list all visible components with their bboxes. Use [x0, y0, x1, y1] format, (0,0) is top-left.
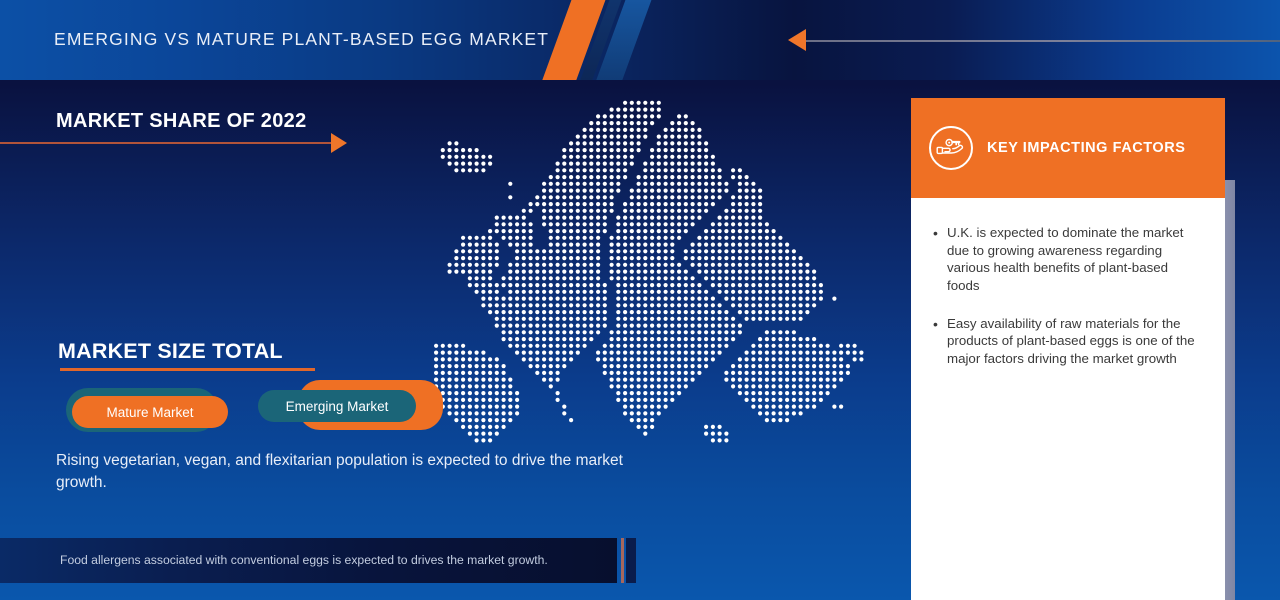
panel-header: KEY IMPACTING FACTORS: [911, 98, 1225, 198]
list-item: • Easy availability of raw materials for…: [933, 315, 1203, 368]
panel-shadow: [1225, 180, 1235, 600]
arrow-left-icon: [788, 29, 806, 51]
infographic-canvas: EMERGING VS MATURE PLANT-BASED EGG MARKE…: [0, 0, 1280, 600]
market-size-underline: [60, 368, 315, 371]
market-share-rule: [0, 142, 338, 144]
legend-pill-emerging-market[interactable]: Emerging Market: [258, 380, 443, 436]
list-item: • U.K. is expected to dominate the marke…: [933, 224, 1203, 295]
header-arrow-line: [804, 40, 1280, 42]
list-item-text: Easy availability of raw materials for t…: [947, 315, 1203, 368]
panel-title: KEY IMPACTING FACTORS: [987, 140, 1185, 156]
list-item-text: U.K. is expected to dominate the market …: [947, 224, 1203, 295]
footer-banner-text: Food allergens associated with conventio…: [60, 553, 605, 567]
legend-pill-label-mature: Mature Market: [72, 396, 228, 428]
footer-banner-accent-bar: [621, 538, 624, 583]
hand-holding-key-icon: [929, 126, 973, 170]
legend-pill-mature-market[interactable]: Mature Market: [66, 388, 241, 436]
bullet-icon: •: [933, 315, 947, 368]
key-impacting-factors-panel: KEY IMPACTING FACTORS • U.K. is expected…: [911, 98, 1225, 600]
market-description-text: Rising vegetarian, vegan, and flexitaria…: [56, 450, 636, 495]
arrow-right-icon: [331, 133, 347, 153]
page-title: EMERGING VS MATURE PLANT-BASED EGG MARKE…: [54, 29, 549, 50]
panel-body: • U.K. is expected to dominate the marke…: [911, 198, 1225, 388]
legend-pill-label-emerging: Emerging Market: [258, 390, 416, 422]
market-share-block: MARKET SHARE OF 2022: [0, 110, 360, 160]
footer-banner-end-bar: [626, 538, 636, 583]
market-size-title: MARKET SIZE TOTAL: [58, 339, 283, 364]
europe-dotted-map: [432, 92, 872, 452]
bullet-icon: •: [933, 224, 947, 295]
market-share-title: MARKET SHARE OF 2022: [56, 110, 307, 133]
